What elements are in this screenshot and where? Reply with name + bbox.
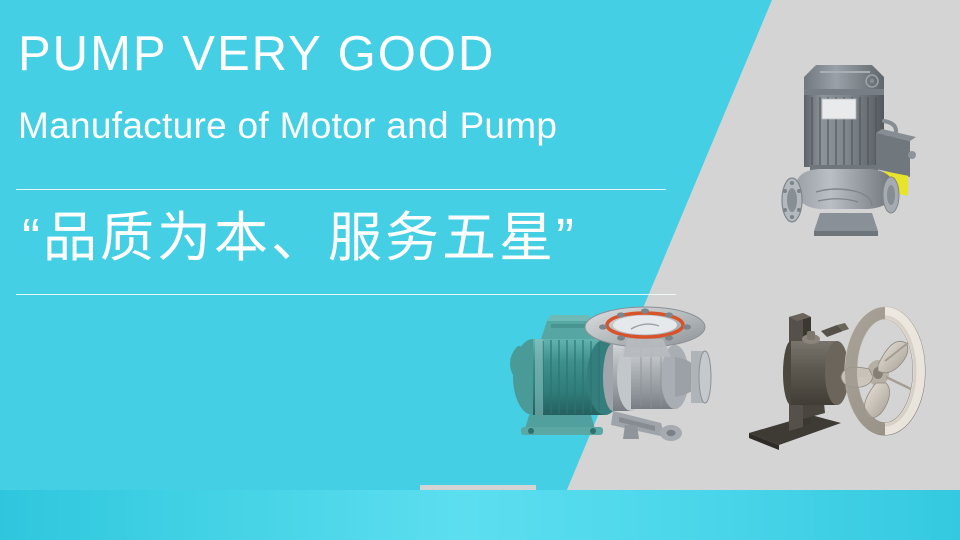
product-image-inline-pipeline-pump (760, 55, 950, 240)
divider-line-bottom (16, 294, 676, 295)
headline: PUMP VERY GOOD (18, 28, 495, 82)
bottom-gradient-band (0, 490, 960, 540)
slogan-chinese: “品质为本、服务五星” (22, 199, 577, 277)
divider-line-top (16, 189, 666, 190)
product-image-submersible-mixer (745, 295, 955, 460)
promo-banner: PUMP VERY GOOD Manufacture of Motor and … (0, 0, 960, 540)
product-image-horizontal-centrifugal-pump (495, 305, 745, 465)
subheadline: Manufacture of Motor and Pump (18, 105, 557, 148)
